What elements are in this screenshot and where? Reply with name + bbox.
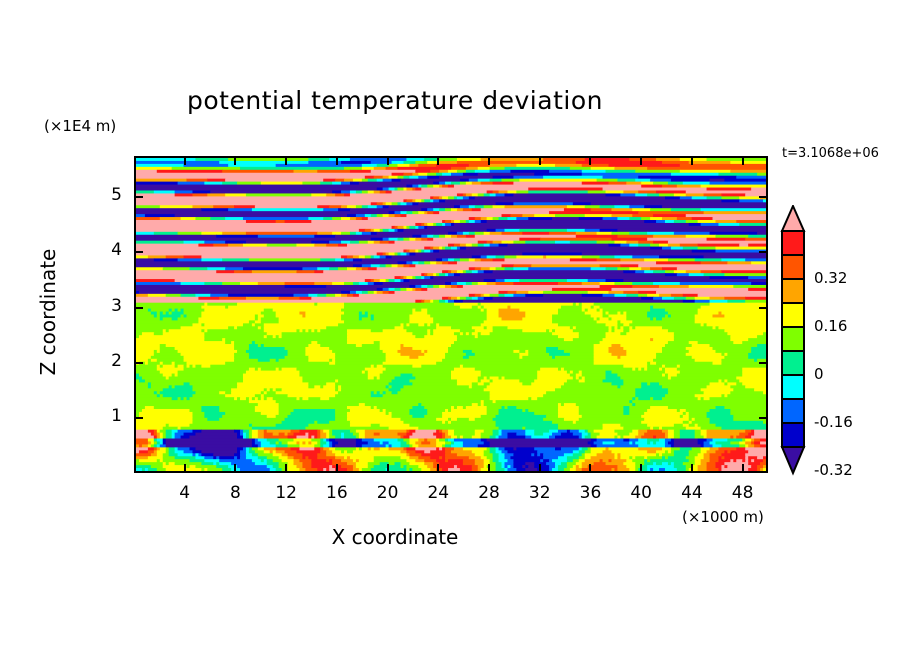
x-tick-mark: [336, 464, 338, 473]
colorbar-tick-label: -0.16: [814, 413, 853, 431]
contour-field: [136, 158, 766, 471]
y-tick-mark-right: [759, 307, 768, 309]
y-tick-label: 5: [92, 185, 122, 205]
colorbar-tick-label: 0.16: [814, 317, 847, 335]
x-tick-mark: [437, 464, 439, 473]
colorbar-band: [782, 303, 804, 327]
x-tick-label: 48: [723, 483, 763, 503]
x-tick-mark-top: [742, 156, 744, 165]
x-tick-label: 16: [317, 483, 357, 503]
colorbar-band: [782, 279, 804, 303]
x-tick-mark-top: [488, 156, 490, 165]
x-tick-label: 8: [215, 483, 255, 503]
figure-canvas: potential temperature deviation (×1E4 m)…: [0, 0, 904, 654]
plot-area: [134, 156, 768, 473]
x-tick-mark: [387, 464, 389, 473]
colorbar-tick-label: -0.32: [814, 461, 853, 479]
x-tick-mark: [640, 464, 642, 473]
colorbar-band: [782, 327, 804, 351]
y-axis-unit-label: (×1E4 m): [44, 117, 116, 135]
x-tick-mark-top: [336, 156, 338, 165]
x-tick-mark: [285, 464, 287, 473]
colorbar-band: [782, 399, 804, 423]
x-tick-mark-top: [285, 156, 287, 165]
x-tick-label: 28: [469, 483, 509, 503]
colorbar-swatches: [778, 205, 818, 520]
colorbar-cap-low: [782, 447, 804, 473]
colorbar-tick-label: 0.32: [814, 269, 847, 287]
y-tick-label: 1: [92, 406, 122, 426]
colorbar-tick-label: 0: [814, 365, 824, 383]
x-tick-label: 4: [165, 483, 205, 503]
x-tick-label: 32: [520, 483, 560, 503]
x-tick-mark-top: [437, 156, 439, 165]
x-tick-mark-top: [234, 156, 236, 165]
y-tick-mark: [134, 362, 143, 364]
y-tick-label: 2: [92, 351, 122, 371]
x-tick-mark: [184, 464, 186, 473]
x-axis-label: X coordinate: [0, 525, 790, 549]
colorbar-band: [782, 423, 804, 447]
x-tick-label: 40: [621, 483, 661, 503]
y-tick-mark: [134, 196, 143, 198]
x-tick-mark: [742, 464, 744, 473]
x-axis-unit-label: (×1000 m): [682, 508, 764, 526]
colorbar-cap-high: [782, 206, 804, 231]
x-tick-mark-top: [539, 156, 541, 165]
x-tick-mark: [589, 464, 591, 473]
colorbar-band: [782, 255, 804, 279]
x-tick-label: 44: [672, 483, 712, 503]
y-tick-mark-right: [759, 196, 768, 198]
y-tick-label: 4: [92, 240, 122, 260]
y-tick-label: 3: [92, 296, 122, 316]
x-tick-mark: [234, 464, 236, 473]
colorbar: 0.320.160-0.16-0.32: [778, 205, 818, 520]
x-tick-mark-top: [589, 156, 591, 165]
x-tick-label: 12: [266, 483, 306, 503]
x-tick-mark: [488, 464, 490, 473]
chart-title: potential temperature deviation: [0, 86, 790, 115]
x-tick-mark: [691, 464, 693, 473]
y-tick-mark: [134, 417, 143, 419]
y-axis-label: Z coordinate: [36, 202, 60, 422]
x-tick-mark-top: [184, 156, 186, 165]
y-tick-mark: [134, 251, 143, 253]
x-tick-label: 36: [570, 483, 610, 503]
x-tick-mark-top: [387, 156, 389, 165]
colorbar-band: [782, 231, 804, 255]
timestamp-annotation: t=3.1068e+06: [782, 146, 879, 161]
y-tick-mark-right: [759, 417, 768, 419]
x-tick-label: 20: [368, 483, 408, 503]
colorbar-band: [782, 375, 804, 399]
colorbar-band: [782, 351, 804, 375]
x-tick-mark-top: [691, 156, 693, 165]
x-tick-label: 24: [418, 483, 458, 503]
x-tick-mark: [539, 464, 541, 473]
y-tick-mark: [134, 307, 143, 309]
y-tick-mark-right: [759, 251, 768, 253]
y-tick-mark-right: [759, 362, 768, 364]
x-tick-mark-top: [640, 156, 642, 165]
